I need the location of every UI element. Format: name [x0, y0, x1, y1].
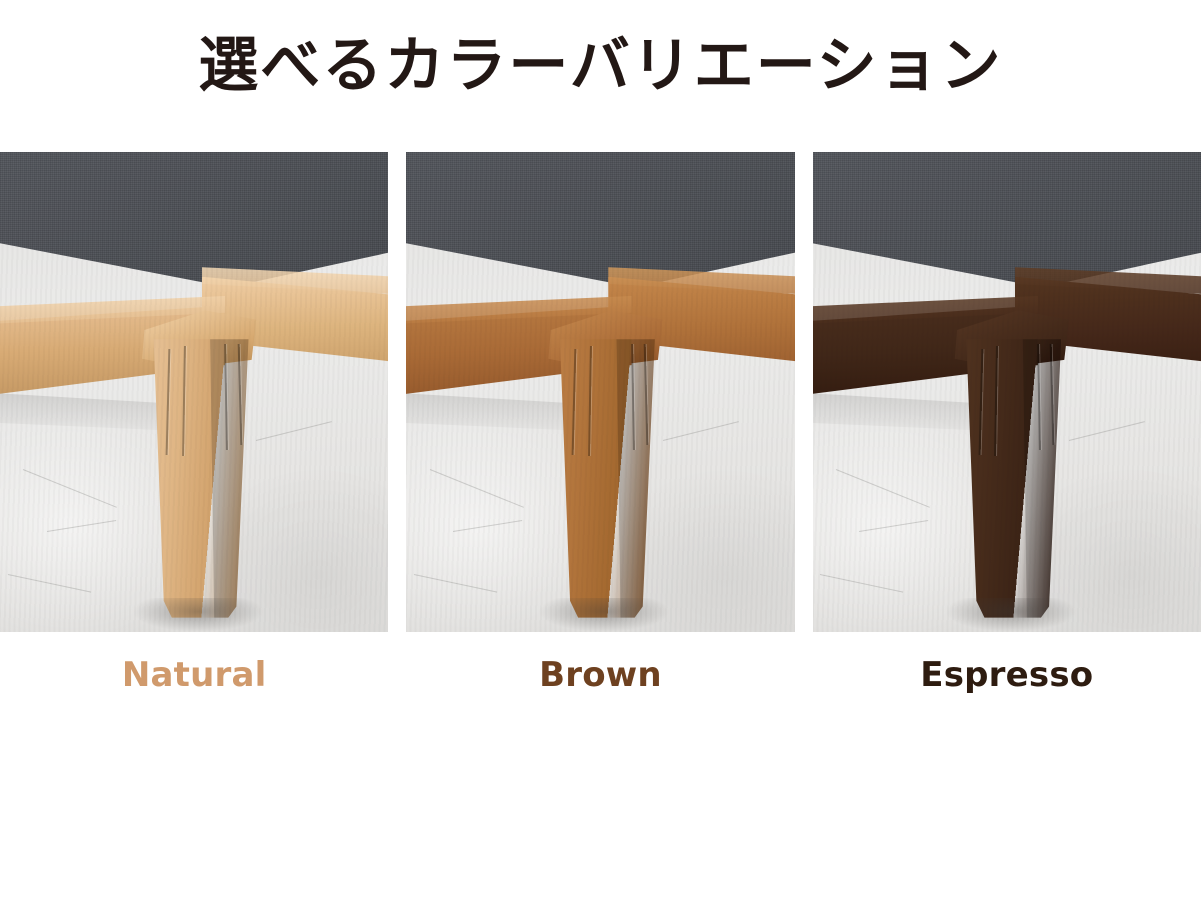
leg-contact-shadow: [132, 598, 264, 632]
variant-photo-espresso[interactable]: [813, 152, 1201, 632]
floor-crack: [414, 574, 498, 593]
variant-label-natural: Natural: [0, 652, 388, 712]
floor-crack: [453, 520, 522, 532]
product-photo-natural: [0, 152, 388, 632]
leg-contact-shadow: [538, 598, 670, 632]
variant-label-brown: Brown: [406, 652, 794, 712]
floor-crack: [662, 421, 738, 441]
product-photo-brown: [406, 152, 794, 632]
floor-crack: [47, 520, 116, 532]
floor-crack: [429, 469, 523, 508]
floor-crack: [820, 574, 904, 593]
leg-contact-shadow: [945, 598, 1077, 632]
variant-photo-natural[interactable]: [0, 152, 388, 632]
floor-crack: [859, 520, 928, 532]
page-title: 選べるカラーバリエーション: [0, 34, 1201, 99]
variant-gallery: [0, 152, 1201, 632]
color-variation-page: 選べるカラーバリエーション: [0, 0, 1201, 901]
floor-crack: [836, 469, 930, 508]
variant-labels: Natural Brown Espresso: [0, 652, 1201, 712]
floor-crack: [256, 421, 332, 441]
floor-crack: [23, 469, 117, 508]
floor-crack: [8, 574, 92, 593]
variant-photo-brown[interactable]: [406, 152, 794, 632]
product-photo-espresso: [813, 152, 1201, 632]
variant-label-espresso: Espresso: [813, 652, 1201, 712]
floor-crack: [1069, 421, 1145, 441]
